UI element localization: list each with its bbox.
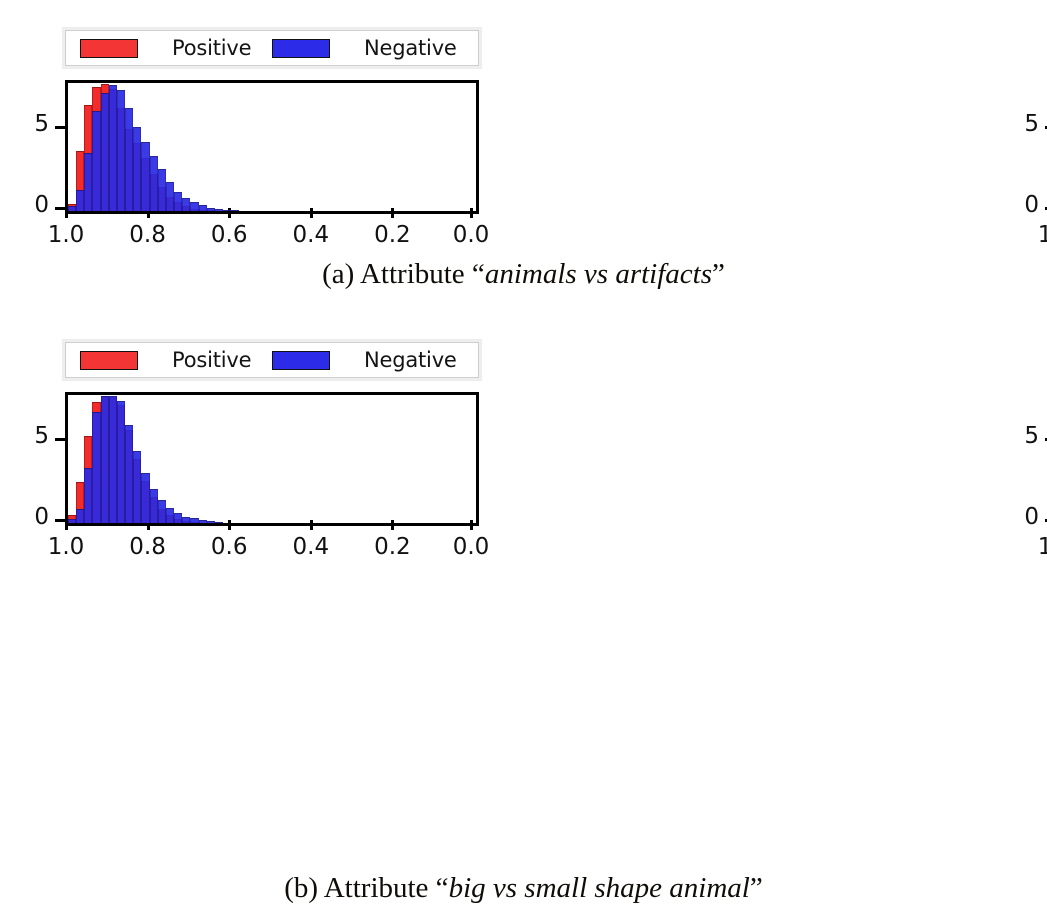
histogram-bar — [166, 508, 174, 523]
caption-b-attribute: big vs small shape animal — [449, 872, 750, 904]
y-axis-label: 5 — [15, 423, 49, 449]
legend-label-negative: Negative — [364, 348, 457, 372]
histogram-bar — [133, 127, 141, 211]
axes-a-left — [65, 80, 479, 214]
histogram-bar — [84, 153, 92, 211]
histogram-bar — [215, 209, 223, 211]
histogram-bar — [92, 412, 100, 523]
x-axis-label: 0.0 — [436, 222, 506, 248]
caption-b-prefix: (b) Attribute “ — [284, 872, 448, 904]
histogram-bar — [174, 192, 182, 211]
histogram-bar — [158, 500, 166, 523]
histogram-bar — [117, 401, 125, 523]
legend-entry-negative: Negative — [272, 348, 464, 372]
caption-a-suffix: ” — [712, 258, 725, 290]
legend-entry-positive: Positive — [80, 36, 272, 60]
caption-a-attribute: animals vs artifacts — [485, 258, 712, 290]
y-axis-label: 0 — [15, 504, 49, 530]
x-axis-tick — [391, 520, 394, 530]
y-axis-label: 5 — [1005, 111, 1039, 137]
histogram-bar — [190, 202, 198, 211]
x-axis-tick — [310, 520, 313, 530]
histogram-bar — [182, 517, 190, 523]
legend-entry-positive: Positive — [80, 348, 272, 372]
y-axis-label: 0 — [1005, 192, 1039, 218]
x-axis-tick — [470, 208, 473, 218]
histogram-bar — [166, 182, 174, 211]
x-axis-tick — [470, 520, 473, 530]
axes-b-left — [65, 392, 479, 526]
x-axis-label: 0.6 — [194, 222, 264, 248]
histogram-bar — [84, 468, 92, 523]
y-axis-tick — [55, 126, 65, 129]
x-axis-label: 1.0 — [31, 534, 101, 560]
histogram-bar — [101, 93, 109, 211]
histogram-bar — [207, 521, 215, 523]
x-axis-label: 0.0 — [436, 534, 506, 560]
histogram-bar — [141, 473, 149, 523]
x-axis-label: 0.2 — [357, 534, 427, 560]
histogram-bar — [125, 108, 133, 211]
caption-a-prefix: (a) Attribute “ — [322, 258, 485, 290]
panel-b: Positive Negative 1.00.80.60.40.20.005 P… — [0, 312, 1047, 617]
x-axis-label: 1.0 — [1021, 534, 1047, 560]
y-axis-label: 5 — [1005, 423, 1039, 449]
histogram-bar — [215, 522, 223, 523]
y-axis-tick — [55, 207, 65, 210]
histogram-bar — [92, 111, 100, 211]
x-axis-label: 0.8 — [113, 534, 183, 560]
caption-a: (a) Attribute “animals vs artifacts” — [0, 258, 1047, 291]
plotarea-b-left — [68, 395, 476, 523]
x-axis-label: 0.8 — [113, 222, 183, 248]
legend-swatch-negative-icon — [272, 39, 330, 58]
x-axis-label: 0.6 — [194, 534, 264, 560]
legend-label-positive: Positive — [172, 348, 251, 372]
histogram-bar — [117, 90, 125, 211]
histogram-bar — [199, 205, 207, 211]
histogram-bar — [223, 210, 231, 211]
y-axis-tick — [55, 519, 65, 522]
histogram-bar — [158, 169, 166, 211]
x-axis-tick — [310, 208, 313, 218]
histogram-bar — [182, 198, 190, 211]
histogram-bar — [68, 206, 76, 211]
y-axis-label: 0 — [15, 192, 49, 218]
x-axis-label: 0.4 — [276, 222, 346, 248]
legend-swatch-negative-icon — [272, 351, 330, 370]
histogram-bar — [125, 425, 133, 523]
panel-a: Positive Negative 1.00.80.60.40.20.005 P… — [0, 0, 1047, 305]
histogram-bar — [133, 451, 141, 523]
x-axis-label: 0.4 — [276, 534, 346, 560]
histogram-bar — [76, 509, 84, 523]
histogram-bar — [141, 142, 149, 211]
histogram-bar — [150, 489, 158, 523]
legend-a-left: Positive Negative — [65, 30, 479, 66]
plotarea-a-left — [68, 83, 476, 211]
x-axis-tick — [228, 520, 231, 530]
legend-b-left: Positive Negative — [65, 342, 479, 378]
histogram-bar — [207, 208, 215, 211]
histogram-bar — [199, 520, 207, 523]
histogram-bar — [76, 190, 84, 211]
histogram-bar — [150, 156, 158, 211]
legend-entry-negative: Negative — [272, 36, 464, 60]
x-axis-label: 1.0 — [1021, 222, 1047, 248]
histogram-bar — [109, 396, 117, 523]
legend-label-positive: Positive — [172, 36, 251, 60]
figure-histograms: Positive Negative 1.00.80.60.40.20.005 P… — [0, 0, 1047, 625]
caption-b: (b) Attribute “big vs small shape animal… — [0, 872, 1047, 905]
histogram-bar — [109, 85, 117, 211]
y-axis-label: 5 — [15, 111, 49, 137]
histogram-bar — [190, 518, 198, 523]
histogram-bar — [68, 519, 76, 523]
y-axis-tick — [55, 438, 65, 441]
x-axis-tick — [391, 208, 394, 218]
histogram-bar — [174, 513, 182, 523]
caption-b-suffix: ” — [750, 872, 763, 904]
histogram-bar — [101, 396, 109, 523]
legend-swatch-positive-icon — [80, 39, 138, 58]
x-axis-label: 0.2 — [357, 222, 427, 248]
y-axis-label: 0 — [1005, 504, 1039, 530]
legend-label-negative: Negative — [364, 36, 457, 60]
histogram-bar — [231, 210, 239, 211]
x-axis-label: 1.0 — [31, 222, 101, 248]
legend-swatch-positive-icon — [80, 351, 138, 370]
